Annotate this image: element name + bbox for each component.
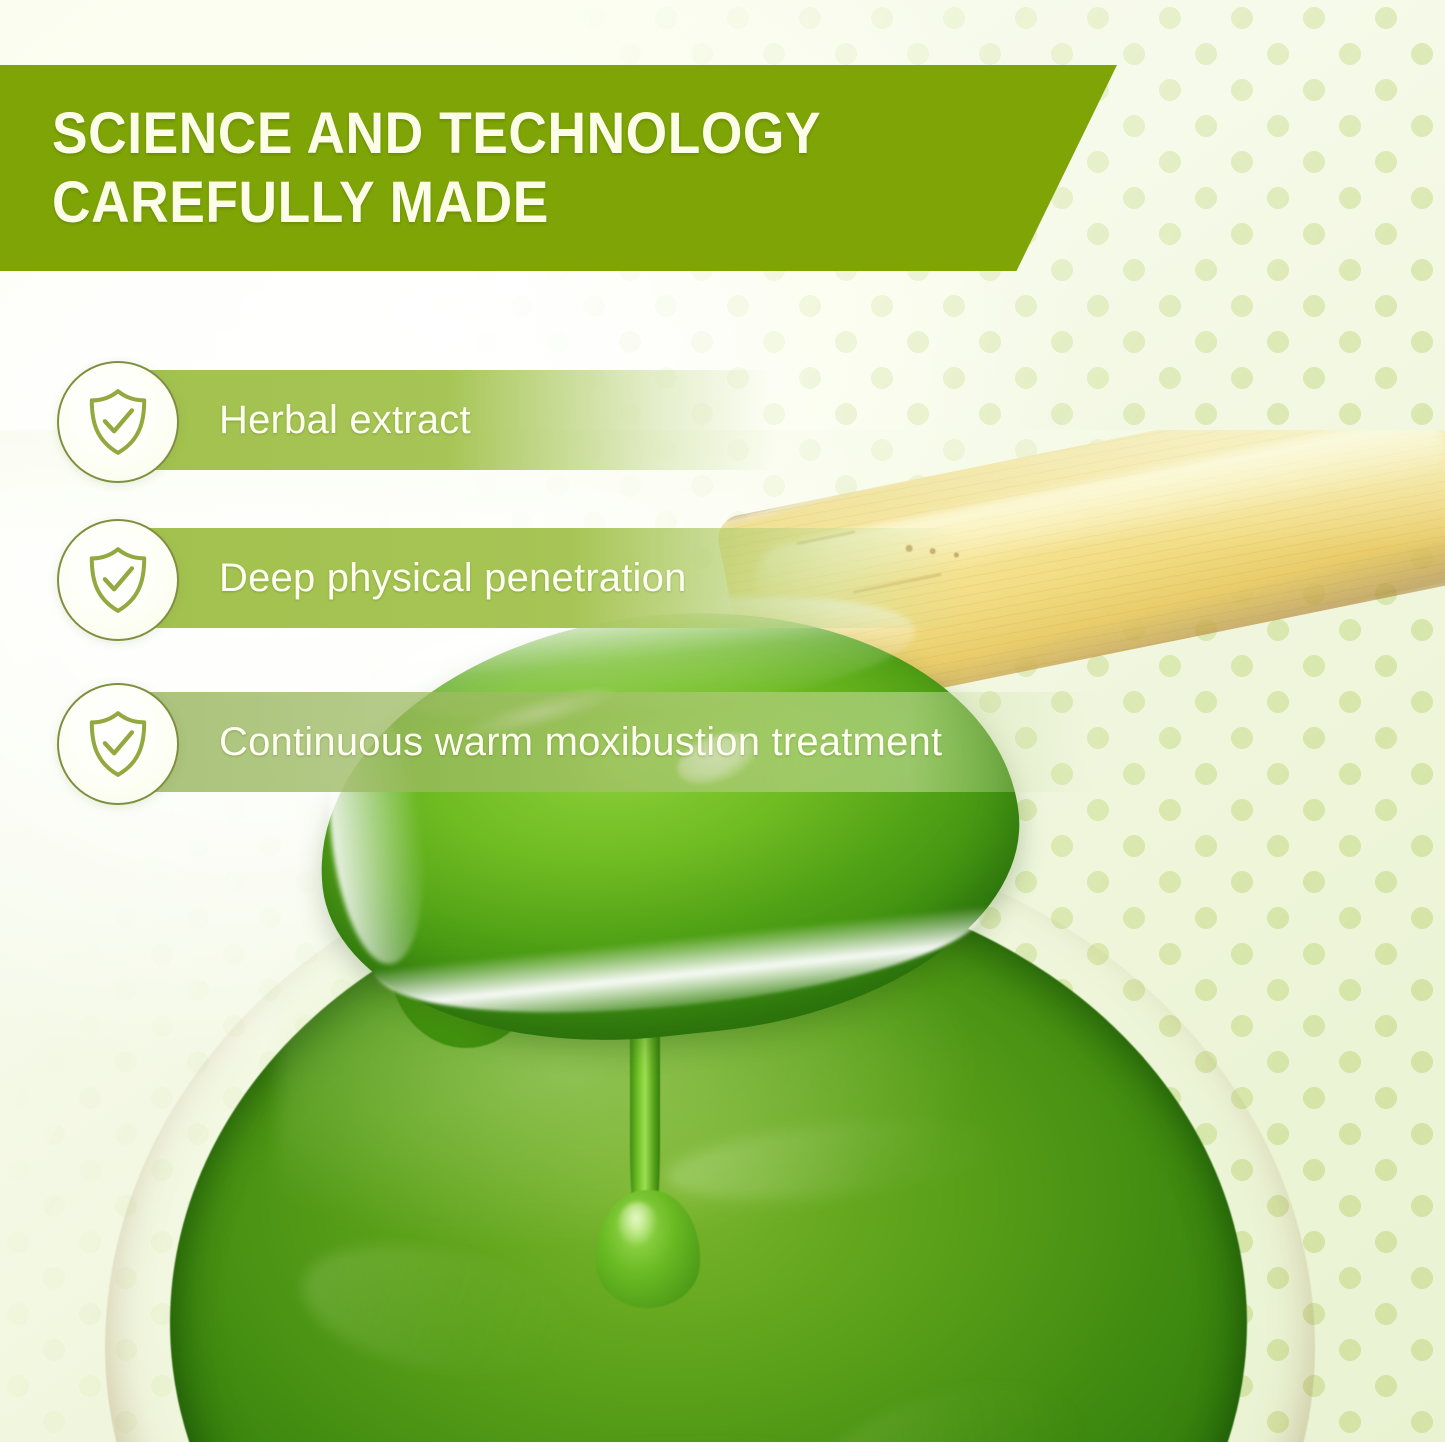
shield-check-icon <box>57 683 179 805</box>
feature-bar-3: Continuous warm moxibustion treatment <box>145 692 1100 792</box>
feature-label-1: Herbal extract <box>219 398 471 443</box>
spoon-with-paste <box>298 580 1038 1071</box>
feature-bar-1: Herbal extract <box>145 370 775 470</box>
feature-label-3: Continuous warm moxibustion treatment <box>219 720 942 765</box>
feature-label-2: Deep physical penetration <box>219 556 687 601</box>
shield-check-icon <box>57 361 179 483</box>
drip-bulb-highlight <box>618 1202 658 1248</box>
product-marketing-image: SCIENCE AND TECHNOLOGY CAREFULLY MADE He… <box>0 0 1445 1442</box>
feature-row-1: Herbal extract <box>0 358 1445 482</box>
header-banner: SCIENCE AND TECHNOLOGY CAREFULLY MADE <box>0 65 1117 271</box>
feature-row-3: Continuous warm moxibustion treatment <box>0 680 1445 804</box>
feature-bar-2: Deep physical penetration <box>145 528 965 628</box>
feature-row-2: Deep physical penetration <box>0 516 1445 640</box>
page-title: SCIENCE AND TECHNOLOGY CAREFULLY MADE <box>52 99 821 237</box>
shield-check-icon <box>57 519 179 641</box>
